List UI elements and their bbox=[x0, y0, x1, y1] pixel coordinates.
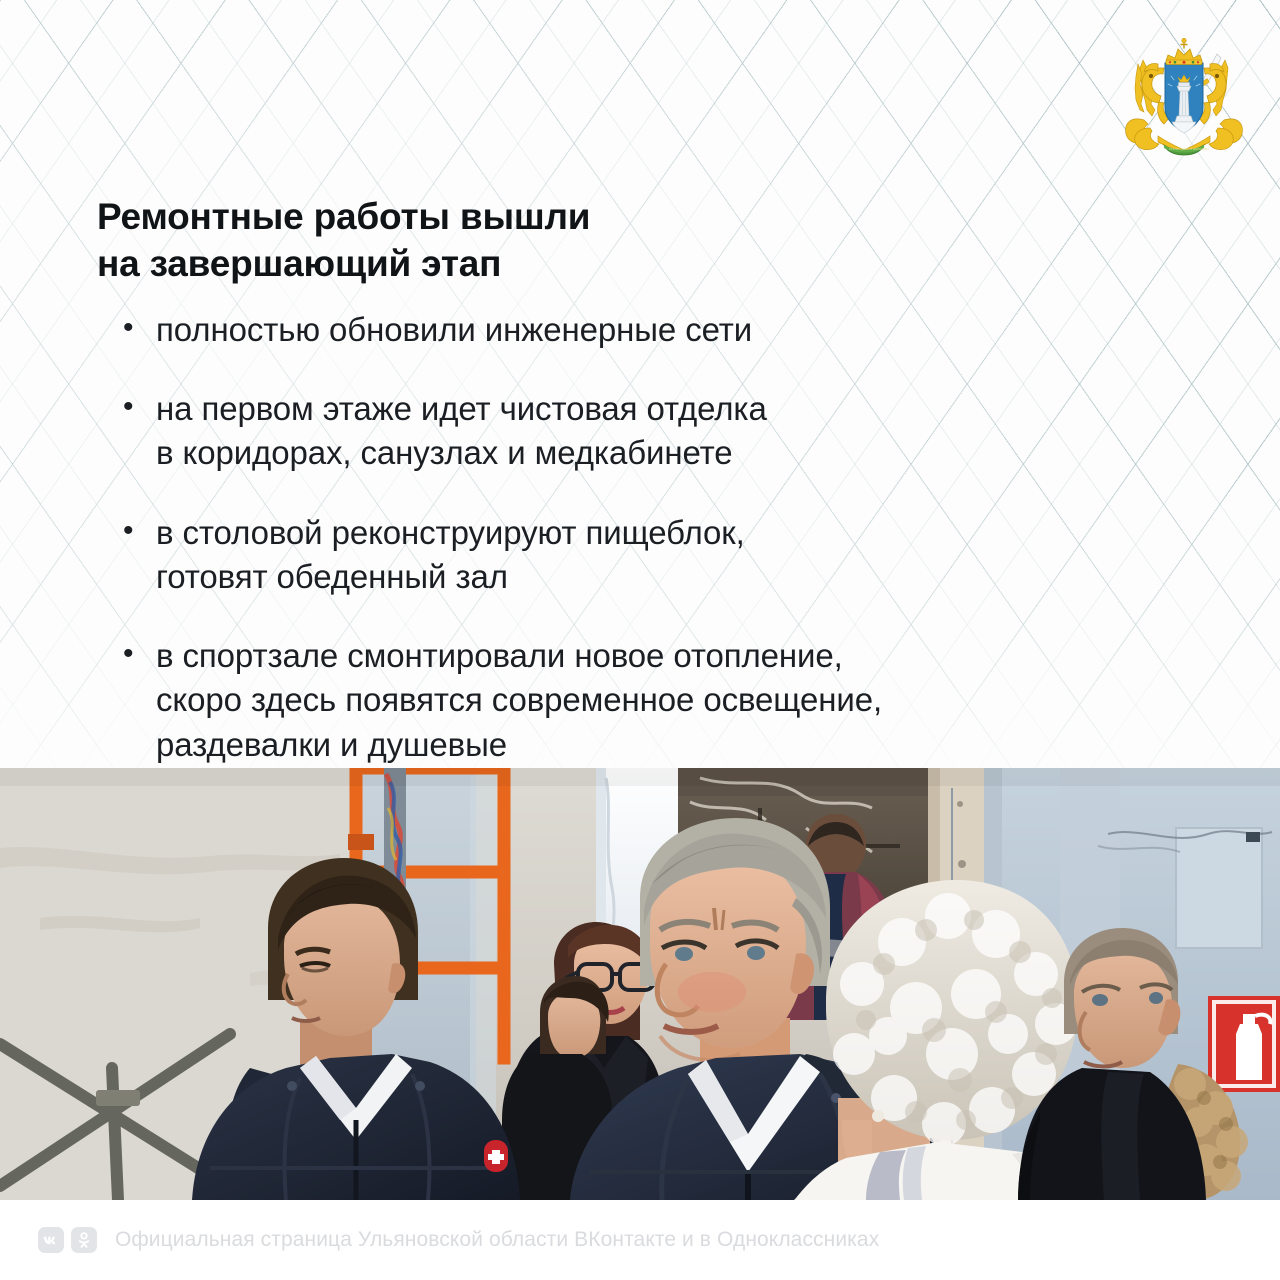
bullet-list: • полностью обновили инженерные сети • н… bbox=[120, 308, 1120, 802]
ok-icon[interactable] bbox=[71, 1227, 97, 1253]
list-item: • в столовой реконструируют пищеблок, го… bbox=[120, 511, 1120, 599]
bullet-marker-icon: • bbox=[120, 511, 156, 551]
svg-text:ОПОРА ДУШИ И ДЕРЖАВЫ: ОПОРА ДУШИ И ДЕРЖАВЫ bbox=[1169, 147, 1209, 151]
bullet-marker-icon: • bbox=[120, 634, 156, 674]
footer-label: Официальная страница Ульяновской области… bbox=[115, 1228, 879, 1252]
vk-icon[interactable] bbox=[38, 1227, 64, 1253]
coat-of-arms-emblem: ОПОРА ДУШИ И ДЕРЖАВЫ bbox=[1114, 24, 1254, 164]
list-item-label: на первом этаже идет чистовая отделка в … bbox=[156, 387, 767, 475]
site-visit-photo bbox=[0, 768, 1280, 1200]
page-title: Ремонтные работы вышли на завершающий эт… bbox=[97, 193, 857, 288]
bullet-marker-icon: • bbox=[120, 387, 156, 427]
footer-bar: Официальная страница Ульяновской области… bbox=[0, 1200, 1280, 1280]
list-item: • на первом этаже идет чистовая отделка … bbox=[120, 387, 1120, 475]
list-item-label: в столовой реконструируют пищеблок, гото… bbox=[156, 511, 745, 599]
list-item-label: полностью обновили инженерные сети bbox=[156, 308, 752, 352]
list-item-label: в спортзале смонтировали новое отопление… bbox=[156, 634, 882, 767]
infographic-card: ОПОРА ДУШИ И ДЕРЖАВЫ Ремонтные работы вы… bbox=[0, 0, 1280, 1280]
list-item: • в спортзале смонтировали новое отоплен… bbox=[120, 634, 1120, 767]
list-item: • полностью обновили инженерные сети bbox=[120, 308, 1120, 352]
bullet-marker-icon: • bbox=[120, 308, 156, 348]
